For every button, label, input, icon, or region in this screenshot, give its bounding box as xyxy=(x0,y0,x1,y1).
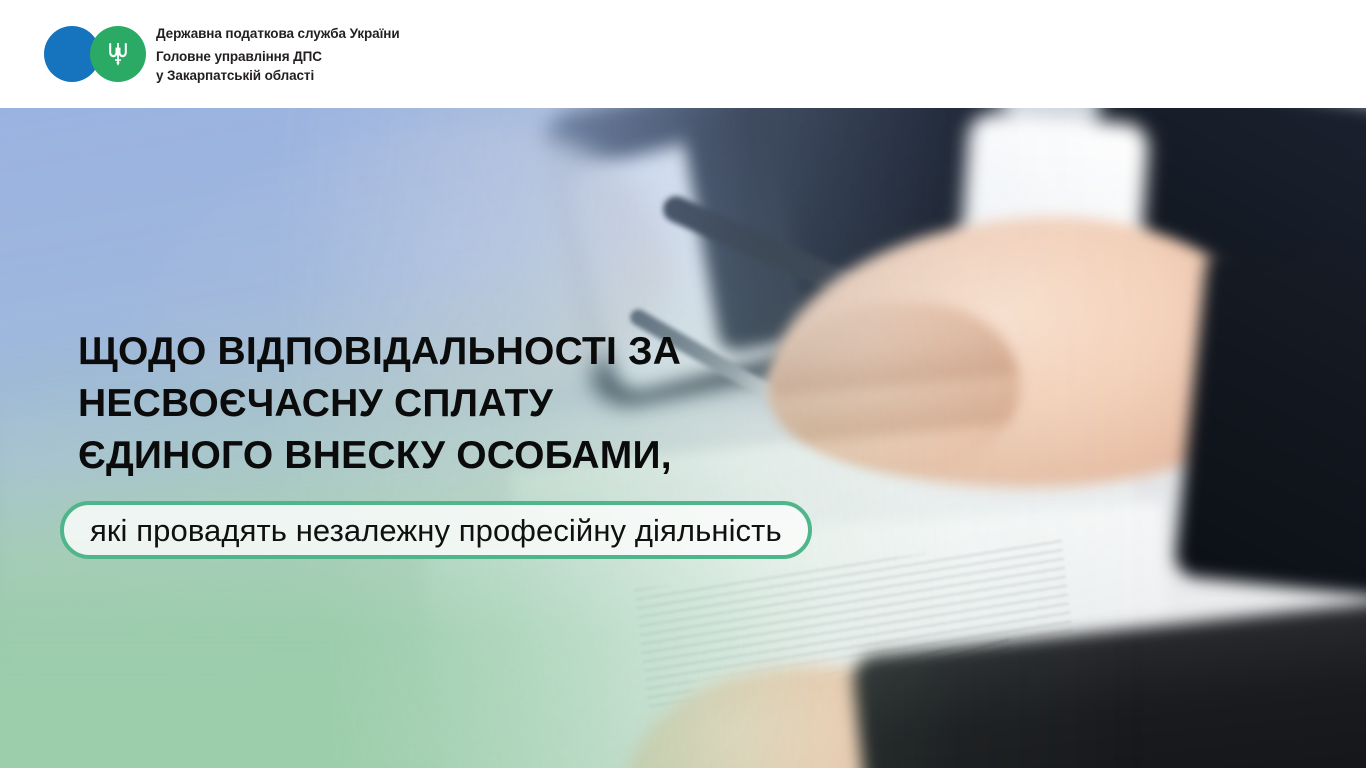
headline-line-1: ЩОДО ВІДПОВІДАЛЬНОСТІ ЗА xyxy=(78,326,1058,378)
org-line-2: Головне управління ДПС xyxy=(156,47,400,66)
page-title: ЩОДО ВІДПОВІДАЛЬНОСТІ ЗА НЕСВОЄЧАСНУ СПЛ… xyxy=(78,326,1058,482)
site-header: Державна податкова служба України Головн… xyxy=(0,0,1366,108)
ukraine-trident-icon xyxy=(107,41,129,67)
hero-content: ЩОДО ВІДПОВІДАЛЬНОСТІ ЗА НЕСВОЄЧАСНУ СПЛ… xyxy=(0,108,1366,768)
headline-line-2: НЕСВОЄЧАСНУ СПЛАТУ xyxy=(78,378,1058,430)
logo-marks xyxy=(44,26,146,82)
organization-name: Державна податкова служба України Головн… xyxy=(156,24,400,85)
subtitle-pill: які провадять незалежну професійну діяль… xyxy=(60,501,812,559)
org-line-3: у Закарпатській області xyxy=(156,66,400,85)
headline-line-3: ЄДИНОГО ВНЕСКУ ОСОБАМИ, xyxy=(78,430,1058,482)
banner-page: Державна податкова служба України Головн… xyxy=(0,0,1366,768)
org-line-1: Державна податкова служба України xyxy=(156,24,400,43)
organization-logo[interactable]: Державна податкова служба України Головн… xyxy=(44,24,400,85)
hero-banner: ЩОДО ВІДПОВІДАЛЬНОСТІ ЗА НЕСВОЄЧАСНУ СПЛ… xyxy=(0,108,1366,768)
green-circle-icon xyxy=(90,26,146,82)
